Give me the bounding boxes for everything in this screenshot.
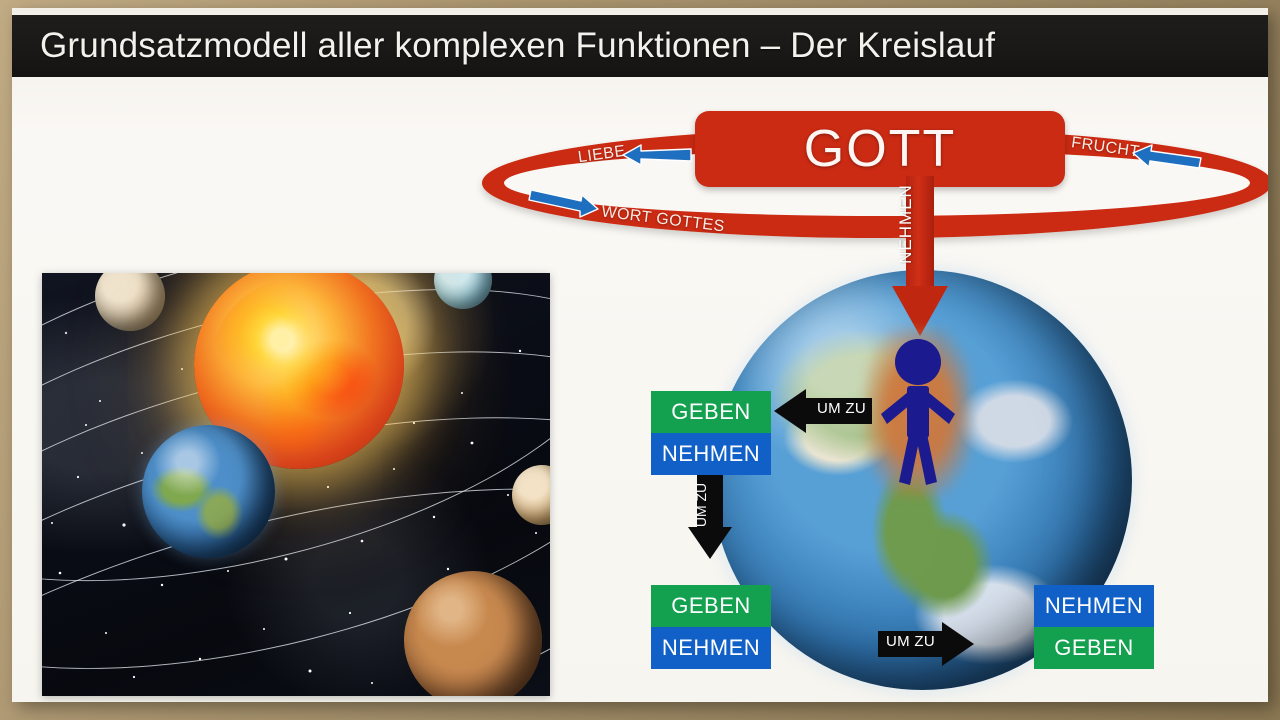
gott-box[interactable]: GOTT [695,111,1065,187]
pair-cell-top: NEHMEN [1034,585,1154,627]
connector-label: UM ZU [817,400,866,417]
solar-system-image [42,273,550,696]
arrow-head-left-icon [774,389,806,433]
arrow-right-wort-gottes-icon [526,190,600,218]
connector-label: UM ZU [886,633,935,650]
connector-arrow-left: UM ZU [774,389,872,433]
pair-cell-bottom: GEBEN [1034,627,1154,669]
connector-arrow-right: UM ZU [878,622,974,666]
pair-box-bottom-left[interactable]: GEBEN NEHMEN [651,585,771,669]
connector-label: UM ZU [693,476,709,534]
connector-arrow-down: UM ZU [688,475,732,561]
pair-cell-top: GEBEN [651,391,771,433]
gott-label: GOTT [804,119,956,179]
nehmen-down-arrow: NEHMEN [892,176,948,336]
person-icon [877,338,959,486]
human-figure [877,338,959,486]
arrow-head-right-icon [942,622,974,666]
planet-earth [142,425,275,558]
pair-box-bottom-right[interactable]: NEHMEN GEBEN [1034,585,1154,669]
nehmen-arrow-label: NEHMEN [896,184,916,264]
arrow-left-frucht-icon [1131,144,1203,170]
slide-canvas: Grundsatzmodell aller komplexen Funktion… [12,8,1268,702]
page-title: Grundsatzmodell aller komplexen Funktion… [12,26,995,66]
planet-mars [404,571,542,696]
pair-cell-top: GEBEN [651,585,771,627]
pair-cell-bottom: NEHMEN [651,433,771,475]
arrow-left-liebe-icon [621,142,693,168]
slide-title-bar: Grundsatzmodell aller komplexen Funktion… [12,15,1268,77]
presentation-frame: Grundsatzmodell aller komplexen Funktion… [0,0,1280,720]
pair-box-left-mid[interactable]: GEBEN NEHMEN [651,391,771,475]
pair-cell-bottom: NEHMEN [651,627,771,669]
